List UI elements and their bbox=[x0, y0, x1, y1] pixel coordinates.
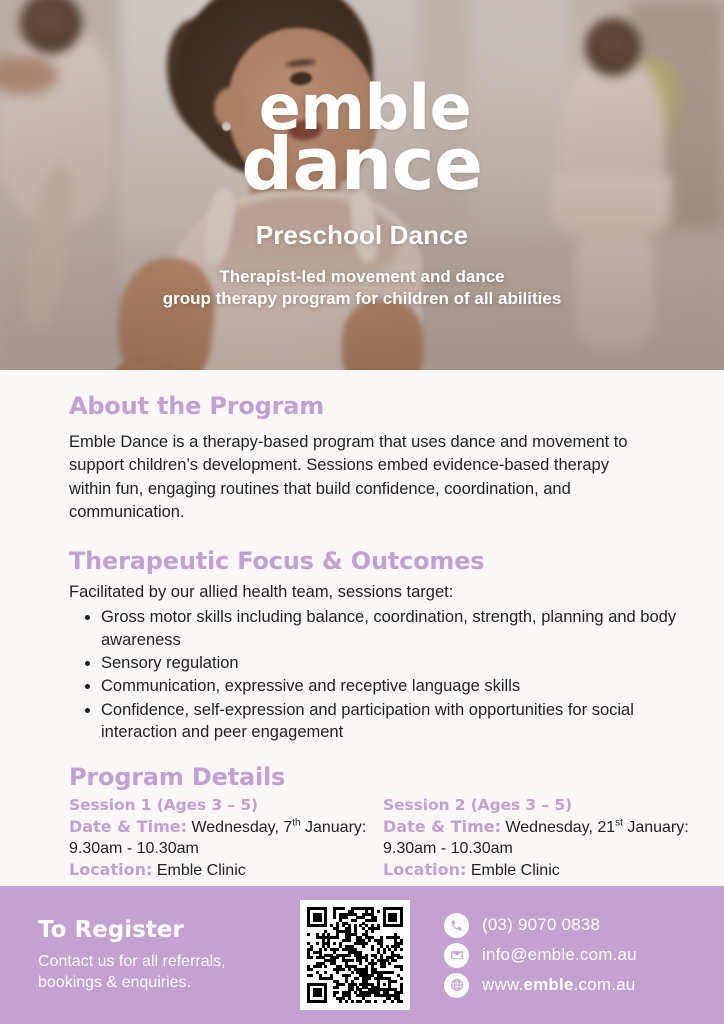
register-subtext: Contact us for all referrals, bookings &… bbox=[38, 951, 300, 994]
session-1-date-suffix: January: bbox=[301, 819, 367, 836]
focus-list: Gross motor skills including balance, co… bbox=[85, 606, 684, 744]
website-prefix: www. bbox=[482, 975, 523, 994]
content-area: About the Program Emble Dance is a thera… bbox=[0, 370, 724, 904]
register-subtext-line-2: bookings & enquiries. bbox=[38, 972, 300, 993]
session-2-time: 9.30am - 10.30am bbox=[383, 838, 697, 859]
program-subtitle-line-2: group therapy program for children of al… bbox=[163, 288, 562, 310]
session-2-datetime: Date & Time: Wednesday, 21st January: bbox=[383, 816, 697, 838]
hero-banner: emble dance Preschool Dance Therapist-le… bbox=[0, 0, 724, 370]
list-item: Gross motor skills including balance, co… bbox=[85, 606, 684, 651]
phone-icon bbox=[444, 913, 469, 938]
register-subtext-line-1: Contact us for all referrals, bbox=[38, 951, 300, 972]
website-url: www.emble.com.au bbox=[482, 975, 635, 995]
focus-lead: Facilitated by our allied health team, s… bbox=[69, 581, 655, 604]
logo-line-dance: dance bbox=[241, 134, 482, 194]
program-subtitle: Therapist-led movement and dance group t… bbox=[163, 266, 562, 311]
about-body: Emble Dance is a therapy-based program t… bbox=[69, 431, 655, 525]
session-1-date-prefix: Wednesday, 7 bbox=[191, 819, 292, 836]
website-suffix: .com.au bbox=[574, 975, 636, 994]
location-label: Location: bbox=[383, 860, 466, 879]
contact-website[interactable]: www.emble.com.au bbox=[444, 973, 637, 998]
qr-code[interactable] bbox=[300, 900, 410, 1010]
datetime-label: Date & Time: bbox=[383, 817, 501, 836]
email-icon bbox=[444, 943, 469, 968]
contact-phone[interactable]: (03) 9070 0838 bbox=[444, 913, 637, 938]
globe-icon bbox=[444, 973, 469, 998]
focus-heading: Therapeutic Focus & Outcomes bbox=[69, 547, 724, 575]
datetime-label: Date & Time: bbox=[69, 817, 187, 836]
session-2-location-value: Emble Clinic bbox=[471, 862, 560, 879]
email-address: info@emble.com.au bbox=[482, 945, 637, 965]
emble-dance-logo: emble dance bbox=[241, 82, 482, 195]
session-2-date-suffix: January: bbox=[623, 819, 689, 836]
session-2-title: Session 2 (Ages 3 – 5) bbox=[383, 796, 697, 814]
flyer-page: emble dance Preschool Dance Therapist-le… bbox=[0, 0, 724, 1024]
qr-code-canvas[interactable] bbox=[307, 907, 403, 1003]
contact-list: (03) 9070 0838 info@emble.com.au bbox=[444, 908, 637, 1003]
list-item: Communication, expressive and receptive … bbox=[85, 675, 684, 697]
session-1-title: Session 1 (Ages 3 – 5) bbox=[69, 796, 383, 814]
website-brand: emble bbox=[523, 975, 573, 994]
session-2-location: Location: Emble Clinic bbox=[383, 859, 697, 881]
register-footer: To Register Contact us for all referrals… bbox=[0, 886, 724, 1024]
session-1-datetime: Date & Time: Wednesday, 7th January: bbox=[69, 816, 383, 838]
session-1-time: 9.30am - 10.30am bbox=[69, 838, 383, 859]
phone-number: (03) 9070 0838 bbox=[482, 915, 600, 935]
session-1-location-value: Emble Clinic bbox=[157, 862, 246, 879]
session-1-date-ordinal: th bbox=[292, 817, 300, 828]
program-subtitle-line-1: Therapist-led movement and dance bbox=[163, 266, 562, 288]
list-item: Confidence, self-expression and particip… bbox=[85, 699, 684, 744]
session-1-location: Location: Emble Clinic bbox=[69, 859, 383, 881]
location-label: Location: bbox=[69, 860, 152, 879]
contact-email[interactable]: info@emble.com.au bbox=[444, 943, 637, 968]
session-2-date-ordinal: st bbox=[615, 817, 623, 828]
hero-content: emble dance Preschool Dance Therapist-le… bbox=[0, 0, 724, 370]
program-title: Preschool Dance bbox=[256, 220, 468, 251]
details-heading: Program Details bbox=[69, 763, 724, 791]
session-2-date-prefix: Wednesday, 21 bbox=[505, 819, 615, 836]
register-text-block: To Register Contact us for all referrals… bbox=[0, 917, 300, 994]
list-item: Sensory regulation bbox=[85, 652, 684, 674]
about-heading: About the Program bbox=[69, 392, 724, 420]
register-heading: To Register bbox=[38, 917, 300, 943]
